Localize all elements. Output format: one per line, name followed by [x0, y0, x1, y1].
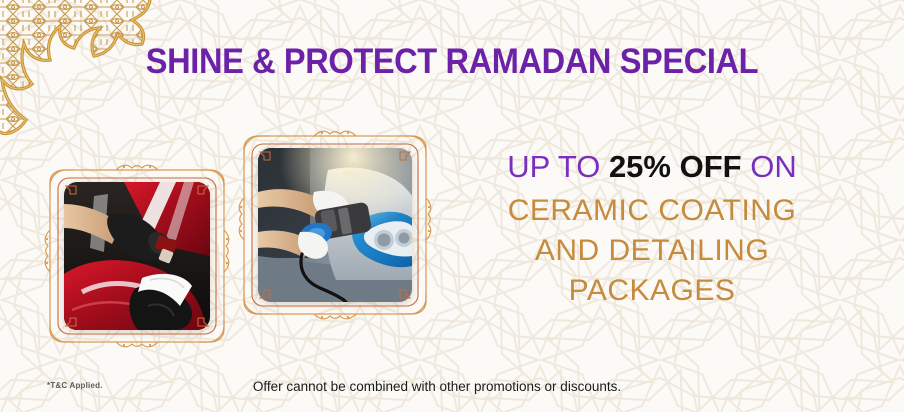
services-line-1: CERAMIC COATING: [452, 191, 852, 231]
offer-text-block: UP TO 25% OFF ON CERAMIC COATING AND DET…: [452, 150, 852, 311]
promo-exclusion-note: Offer cannot be combined with other prom…: [0, 379, 889, 394]
discount-headline: UP TO 25% OFF ON: [452, 150, 852, 183]
red-car-photo-frame: [42, 160, 232, 352]
discount-amount: 25% OFF: [609, 149, 742, 184]
red-car-polish-photo: [64, 182, 210, 330]
services-line-3: PACKAGES: [452, 271, 852, 311]
services-description: CERAMIC COATING AND DETAILING PACKAGES: [452, 191, 852, 311]
offer-suffix: ON: [750, 149, 797, 184]
blue-car-buffer-photo: [258, 148, 412, 302]
ramadan-promo-banner: SHINE & PROTECT RAMADAN SPECIAL: [0, 0, 904, 412]
blue-car-photo-frame: [236, 126, 434, 324]
offer-prefix: UP TO: [507, 149, 600, 184]
page-title: SHINE & PROTECT RAMADAN SPECIAL: [32, 44, 873, 79]
services-line-2: AND DETAILING: [452, 231, 852, 271]
